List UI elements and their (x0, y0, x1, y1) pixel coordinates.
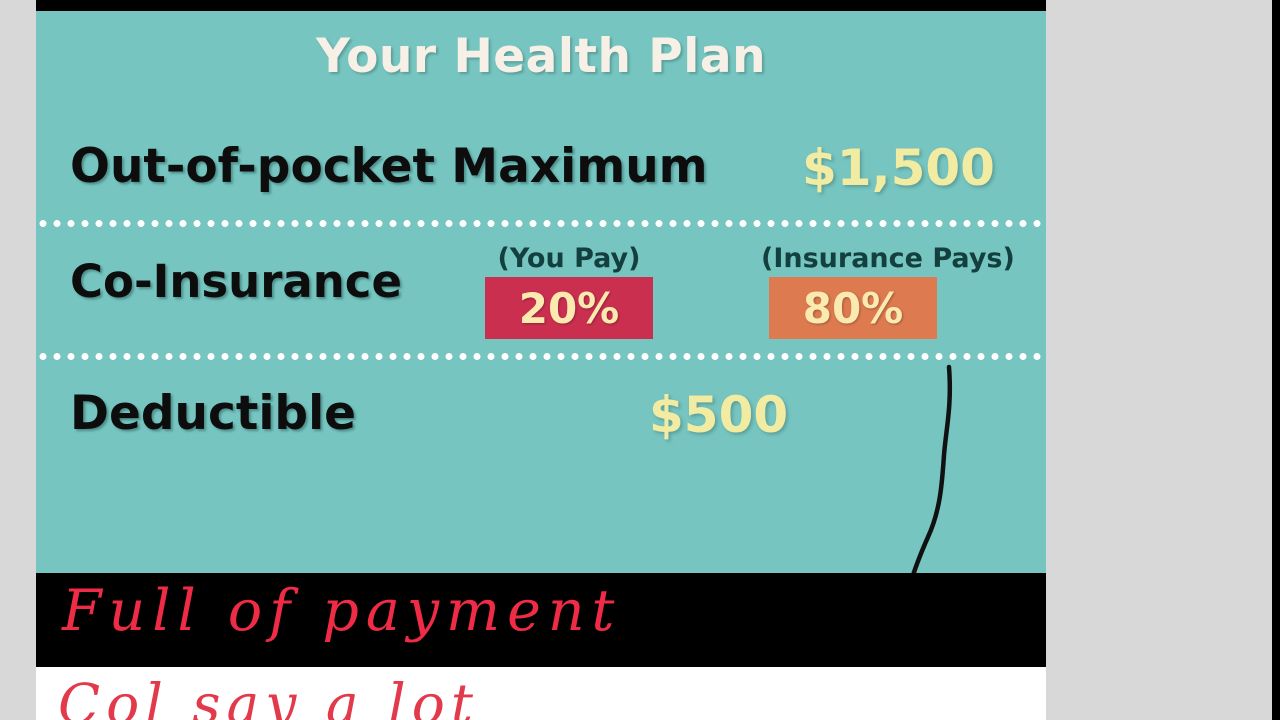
row-label-deductible: Deductible (70, 386, 356, 441)
video-frame[interactable]: Your Health Plan Out-of-pocket Maximum $… (36, 0, 1046, 720)
insurance-pays-caption: (Insurance Pays) (761, 243, 945, 274)
you-pay-caption: (You Pay) (485, 243, 653, 274)
hand-drawn-curve-annotation (856, 351, 986, 591)
letterbox-bottom (36, 573, 1046, 667)
insurance-pays-percentage-badge: 80% (769, 277, 937, 339)
screen-root: Your Health Plan Out-of-pocket Maximum $… (0, 0, 1280, 720)
white-strip-bottom (36, 667, 1046, 720)
page-title: Your Health Plan (36, 29, 1046, 84)
right-edge-strip (1272, 0, 1280, 720)
row-label-out-of-pocket: Out-of-pocket Maximum (70, 139, 708, 194)
you-pay-percentage-badge: 20% (485, 277, 653, 339)
health-plan-slide: Your Health Plan Out-of-pocket Maximum $… (36, 11, 1046, 573)
row-divider-1 (36, 220, 1046, 227)
row-value-out-of-pocket: $1,500 (802, 139, 995, 197)
row-label-co-insurance: Co-Insurance (70, 255, 402, 308)
row-divider-2 (36, 353, 1046, 360)
row-value-deductible: $500 (649, 386, 788, 444)
letterbox-top (36, 0, 1046, 11)
